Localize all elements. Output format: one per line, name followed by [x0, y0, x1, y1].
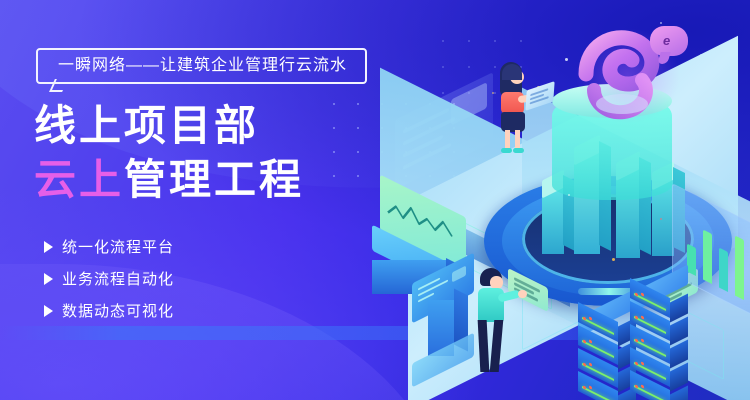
isometric-illustration: e: [372, 0, 750, 400]
chat-bubble-icon: e: [650, 26, 688, 56]
data-tower: [542, 184, 564, 254]
sparkle-icon: [660, 218, 662, 220]
tagline-text: 一瞬网络——让建筑企业管理行云流水: [58, 57, 347, 74]
feature-list: 统一化流程平台 业务流程自动化 数据动态可视化: [44, 236, 174, 332]
sparkle-icon: [612, 258, 615, 261]
feature-label: 统一化流程平台: [62, 236, 174, 257]
server-rack-back: [630, 288, 688, 400]
list-item: 业务流程自动化: [44, 268, 174, 289]
tagline-ribbon: 一瞬网络——让建筑企业管理行云流水: [36, 48, 367, 84]
headline-accent-text: 云上: [34, 156, 124, 203]
promo-banner: e: [0, 0, 750, 400]
e-swirl-logo: e: [568, 22, 688, 130]
bar-chart-bar: [687, 244, 696, 276]
headline-line-2: 云上管理工程: [34, 158, 304, 202]
list-item: 数据动态可视化: [44, 300, 174, 321]
triangle-right-icon: [44, 305, 53, 317]
triangle-right-icon: [44, 241, 53, 253]
headline-rest-text: 管理工程: [124, 156, 304, 203]
sparkle-icon: [568, 194, 570, 196]
woman-with-tablet-figure: [490, 62, 544, 154]
feature-label: 业务流程自动化: [62, 268, 174, 289]
bar-chart-bar: [703, 230, 712, 284]
man-at-console-figure: [470, 268, 540, 380]
list-item: 统一化流程平台: [44, 236, 174, 257]
headline-line-1: 线上项目部: [34, 104, 259, 148]
bar-chart-bar: [735, 235, 744, 299]
bar-chart-bar: [719, 247, 728, 291]
server-rack-front: [578, 312, 636, 400]
text-block: 一瞬网络——让建筑企业管理行云流水 线上项目部 云上管理工程 统一化流程平台 业…: [0, 0, 420, 400]
feature-label: 数据动态可视化: [62, 300, 174, 321]
triangle-right-icon: [44, 273, 53, 285]
